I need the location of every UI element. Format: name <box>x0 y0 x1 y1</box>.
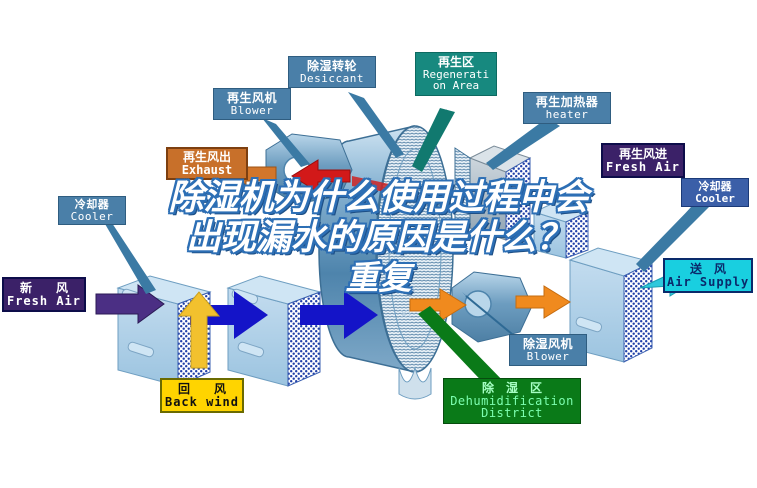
label-desiccant-wheel-en: Desiccant <box>291 73 373 85</box>
overlay-title-line2: 出现漏水的原因是什么？ <box>0 218 757 258</box>
overlay-title: 除湿机为什么使用过程中会 出现漏水的原因是什么？ 重复 <box>0 178 757 298</box>
label-back-wind-cn: 回 风 <box>164 383 240 396</box>
overlay-title-line1: 除湿机为什么使用过程中会 <box>0 178 757 218</box>
label-back-wind[interactable]: 回 风 Back wind <box>160 378 244 413</box>
label-dehum-district-cn: 除 湿 区 <box>446 382 578 395</box>
diagram-canvas: xt <box>0 0 757 488</box>
label-regen-exhaust-en: Exhaust <box>170 164 244 177</box>
label-regen-heater-en: heater <box>526 109 608 121</box>
label-desiccant-wheel[interactable]: 除湿转轮 Desiccant <box>288 56 376 88</box>
label-regeneration-area-cn: 再生区 <box>418 56 494 69</box>
label-regen-exhaust[interactable]: 再生风出 Exhaust <box>166 147 248 180</box>
label-regen-blower[interactable]: 再生风机 Blower <box>213 88 291 120</box>
label-regen-fresh-air-en: Fresh Air <box>605 161 681 174</box>
label-regen-fresh-air-cn: 再生风进 <box>605 148 681 161</box>
label-dehumidification-district[interactable]: 除 湿 区 Dehumidification District <box>443 378 581 424</box>
overlay-title-line3: 重复 <box>0 258 757 298</box>
label-regeneration-area[interactable]: 再生区 Regenerati on Area <box>415 52 497 96</box>
label-regeneration-area-en2: on Area <box>418 80 494 92</box>
label-dehum-blower-en: Blower <box>512 351 584 363</box>
label-regen-heater-cn: 再生加热器 <box>526 96 608 109</box>
label-desiccant-wheel-cn: 除湿转轮 <box>291 60 373 73</box>
label-dehum-blower[interactable]: 除湿风机 Blower <box>509 334 587 366</box>
label-dehum-district-en2: District <box>446 407 578 420</box>
label-regen-heater[interactable]: 再生加热器 heater <box>523 92 611 124</box>
label-regen-exhaust-cn: 再生风出 <box>170 151 244 164</box>
label-regen-fresh-air[interactable]: 再生风进 Fresh Air <box>601 143 685 178</box>
label-regen-blower-cn: 再生风机 <box>216 92 288 105</box>
label-dehum-blower-cn: 除湿风机 <box>512 338 584 351</box>
label-back-wind-en: Back wind <box>164 396 240 409</box>
label-regen-blower-en: Blower <box>216 105 288 117</box>
